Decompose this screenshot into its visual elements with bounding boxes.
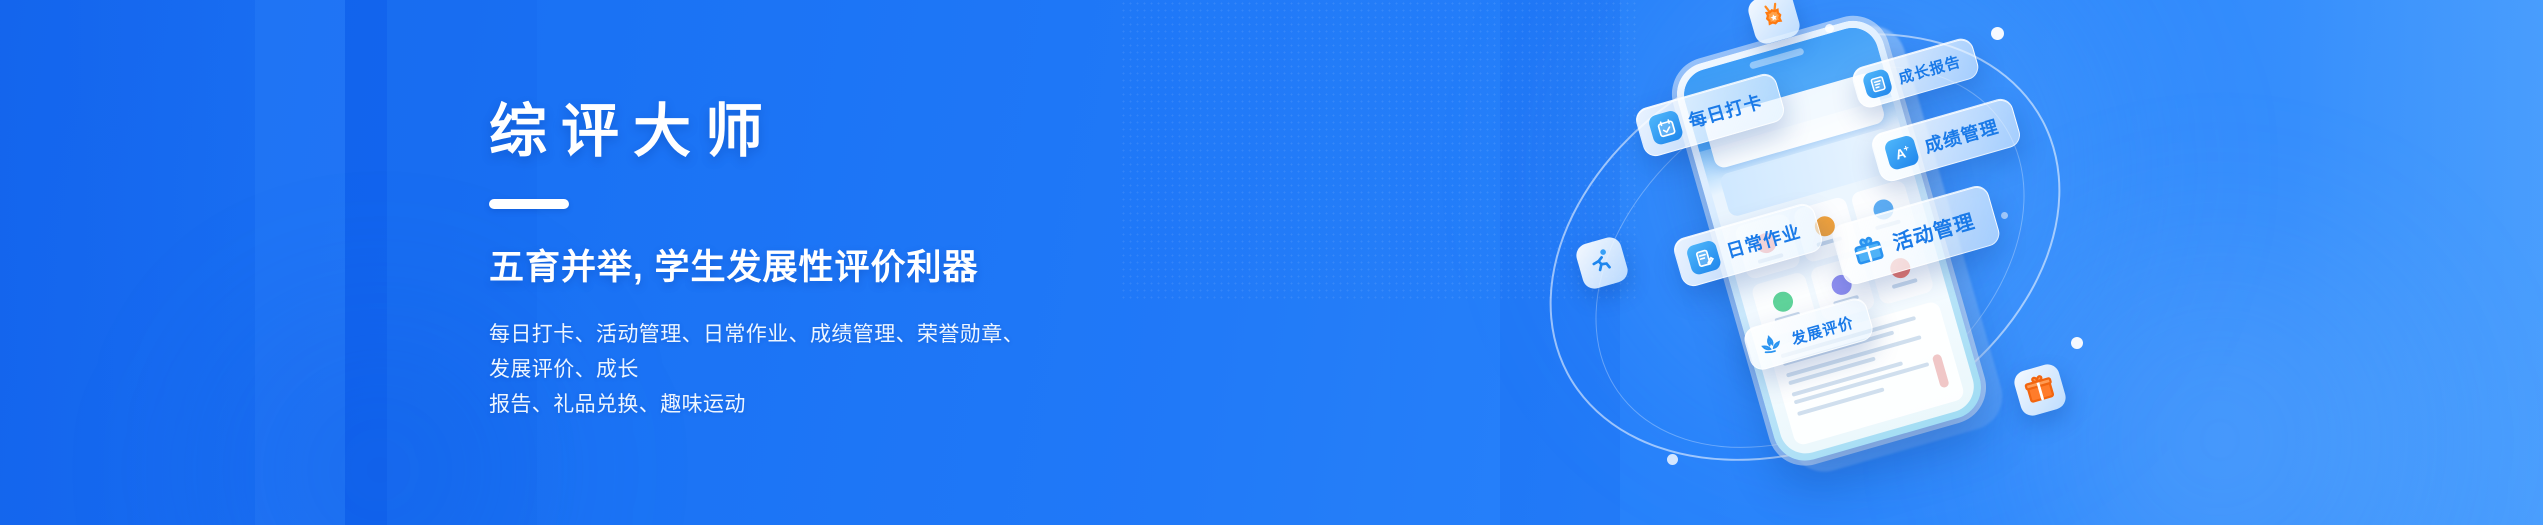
gift-present-icon <box>2021 369 2059 411</box>
description-line-2: 报告、礼品兑换、趣味运动 <box>489 387 1029 422</box>
report-document-icon <box>1861 68 1893 100</box>
sparkle-dot <box>1667 454 1678 465</box>
stripe-1 <box>0 0 255 525</box>
title-divider <box>489 199 569 209</box>
grade-a-plus-icon: A + <box>1883 134 1920 171</box>
status-notch <box>1749 47 1805 69</box>
feature-chip-label: 日常作业 <box>1723 218 1803 264</box>
feature-chip-label: 发展评价 <box>1789 311 1856 349</box>
description-line-1: 每日打卡、活动管理、日常作业、成绩管理、荣誉勋章、发展评价、成长 <box>489 317 1029 388</box>
running-person-icon <box>1584 243 1620 282</box>
feature-chip-label: 成长报告 <box>1896 50 1963 88</box>
gift-box-icon <box>1847 228 1889 270</box>
satellite-gift-exchange[interactable] <box>2012 362 2069 419</box>
stripe-7 <box>2300 0 2543 525</box>
calendar-check-icon <box>1647 109 1684 146</box>
feature-chip-label: 每日打卡 <box>1685 88 1765 134</box>
stripe-2 <box>255 0 345 525</box>
lotus-flower-icon <box>1754 329 1786 361</box>
promo-banner: 综评大师 五育并举, 学生发展性评价利器 每日打卡、活动管理、日常作业、成绩管理… <box>0 0 2543 525</box>
sparkle-dot <box>1991 27 2004 40</box>
banner-copy: 综评大师 五育并举, 学生发展性评价利器 每日打卡、活动管理、日常作业、成绩管理… <box>489 0 1389 525</box>
sparkle-dot <box>1825 24 1834 33</box>
banner-subtitle: 五育并举, 学生发展性评价利器 <box>489 247 1389 289</box>
grid-blob <box>1771 289 1796 314</box>
feature-chip-label: 成绩管理 <box>1921 113 2001 159</box>
grid-caption <box>1891 278 1917 289</box>
honor-medal-icon <box>1755 0 1793 39</box>
feature-chip-label: 活动管理 <box>1889 205 1978 256</box>
sparkle-dot <box>2001 212 2008 219</box>
product-illustration: 每日打卡 成长报告 A + 成绩管理 <box>1555 0 2135 525</box>
homework-pen-icon <box>1685 239 1722 276</box>
sparkle-dot <box>2071 337 2083 349</box>
stripe-3 <box>345 0 387 525</box>
banner-description: 每日打卡、活动管理、日常作业、成绩管理、荣誉勋章、发展评价、成长 报告、礼品兑换… <box>489 317 1029 423</box>
banner-title: 综评大师 <box>489 103 1389 161</box>
